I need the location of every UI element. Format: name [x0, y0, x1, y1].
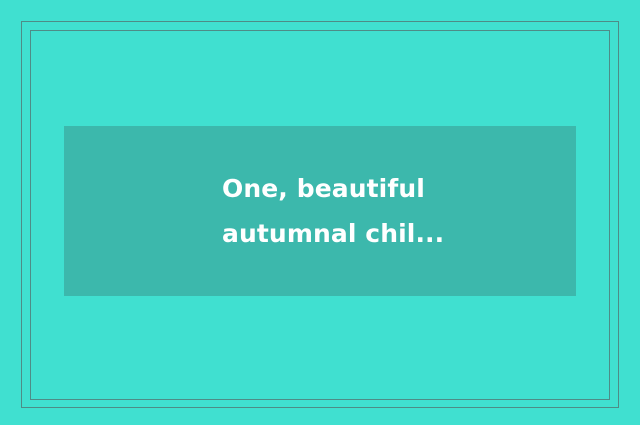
caption-panel: One, beautiful autumnal chil... — [64, 126, 576, 296]
caption-line-1: One, beautiful — [222, 166, 576, 211]
poster-canvas: One, beautiful autumnal chil... — [0, 0, 640, 425]
caption-line-2: autumnal chil... — [222, 211, 576, 256]
